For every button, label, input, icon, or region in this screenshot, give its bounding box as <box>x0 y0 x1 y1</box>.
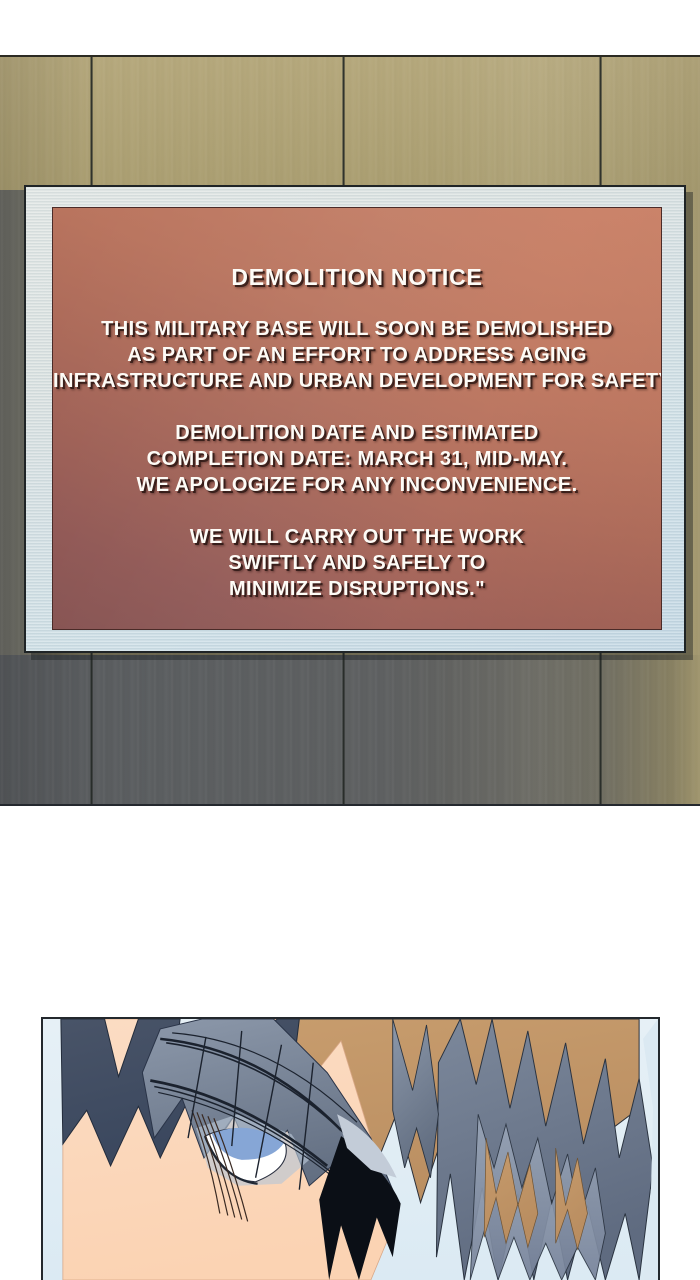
notice-line: WE WILL CARRY OUT THE WORK <box>53 524 661 550</box>
notice-line: THIS MILITARY BASE WILL SOON BE DEMOLISH… <box>53 316 661 342</box>
notice-title: DEMOLITION NOTICE <box>53 264 661 290</box>
notice-line: AS PART OF AN EFFORT TO ADDRESS AGING <box>53 342 661 368</box>
notice-line: MINIMIZE DISRUPTIONS." <box>53 576 661 602</box>
character-artwork <box>43 1019 658 1280</box>
top-gutter <box>0 0 700 55</box>
notice-paragraph-reason: THIS MILITARY BASE WILL SOON BE DEMOLISH… <box>53 316 661 394</box>
notice-paragraph-closing: WE WILL CARRY OUT THE WORK SWIFTLY AND S… <box>53 524 661 602</box>
notice-line: INFRASTRUCTURE AND URBAN DEVELOPMENT FOR… <box>53 368 661 394</box>
middle-gutter <box>0 806 700 1017</box>
notice-board: DEMOLITION NOTICE THIS MILITARY BASE WIL… <box>52 207 662 630</box>
notice-line: SWIFTLY AND SAFELY TO <box>53 550 661 576</box>
webtoon-page: DEMOLITION NOTICE THIS MILITARY BASE WIL… <box>0 0 700 1280</box>
notice-line: DEMOLITION DATE AND ESTIMATED <box>53 420 661 446</box>
notice-line: WE APOLOGIZE FOR ANY INCONVENIENCE. <box>53 472 661 498</box>
closeup-face-panel <box>41 1017 660 1280</box>
notice-text-block: DEMOLITION NOTICE THIS MILITARY BASE WIL… <box>53 208 661 628</box>
notice-line: COMPLETION DATE: MARCH 31, MID-MAY. <box>53 446 661 472</box>
notice-paragraph-dates: DEMOLITION DATE AND ESTIMATED COMPLETION… <box>53 420 661 498</box>
demolition-notice-sign: DEMOLITION NOTICE THIS MILITARY BASE WIL… <box>24 185 686 653</box>
